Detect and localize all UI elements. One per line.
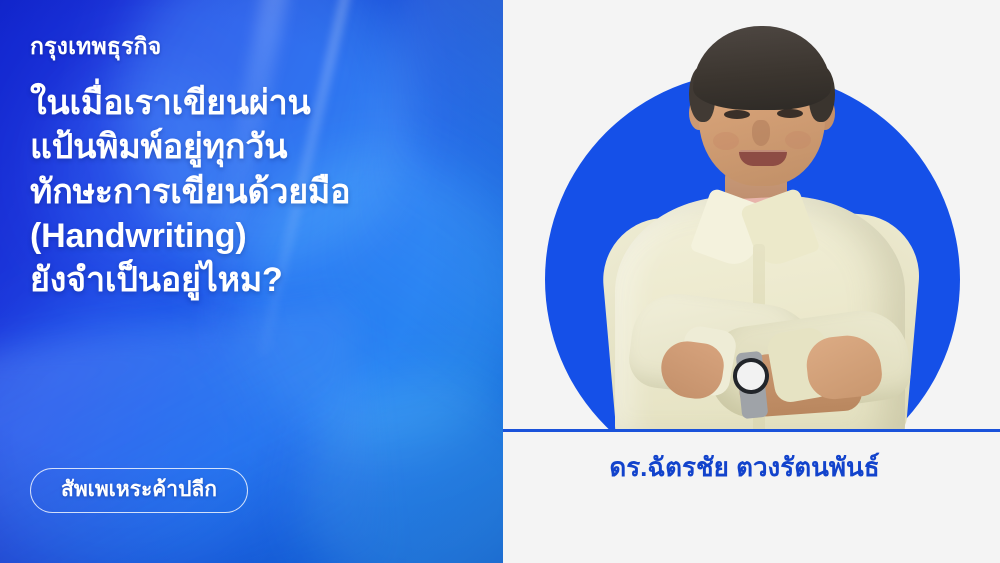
- speaker-portrait: [503, 0, 1000, 431]
- brand-label: กรุงเทพธุรกิจ: [30, 34, 473, 59]
- headline-line-2: แป้นพิมพ์อยู่ทุกวัน: [30, 125, 473, 169]
- portrait-eye-right: [777, 109, 803, 118]
- category-pill-wrapper: สัพเพเหระค้าปลีก: [30, 468, 473, 513]
- left-blue-panel: กรุงเทพธุรกิจ ในเมื่อเราเขียนผ่าน แป้นพิ…: [0, 0, 503, 563]
- portrait-nose: [752, 120, 770, 146]
- portrait-eye-left: [724, 110, 750, 119]
- portrait-hair: [693, 26, 831, 110]
- speaker-name: ดร.ฉัตรชัย ตวงรัตนพันธ์: [503, 452, 1000, 483]
- headline-line-1: ในเมื่อเราเขียนผ่าน: [30, 81, 473, 125]
- headline: ในเมื่อเราเขียนผ่าน แป้นพิมพ์อยู่ทุกวัน …: [30, 81, 473, 302]
- horizontal-divider: [503, 429, 1000, 432]
- headline-line-3: ทักษะการเขียนด้วยมือ: [30, 170, 473, 214]
- headline-line-4: (Handwriting): [30, 214, 473, 258]
- portrait-cheek-left: [713, 132, 739, 150]
- portrait-cheek-right: [785, 131, 811, 149]
- left-content: กรุงเทพธุรกิจ ในเมื่อเราเขียนผ่าน แป้นพิ…: [0, 0, 503, 563]
- news-card: กรุงเทพธุรกิจ ในเมื่อเราเขียนผ่าน แป้นพิ…: [0, 0, 1000, 563]
- speaker-photo-stage: [503, 0, 1000, 431]
- portrait-mouth: [739, 152, 787, 166]
- category-pill[interactable]: สัพเพเหระค้าปลีก: [30, 468, 248, 513]
- right-panel: ดร.ฉัตรชัย ตวงรัตนพันธ์: [503, 0, 1000, 563]
- headline-line-5: ยังจำเป็นอยู่ไหม?: [30, 258, 473, 302]
